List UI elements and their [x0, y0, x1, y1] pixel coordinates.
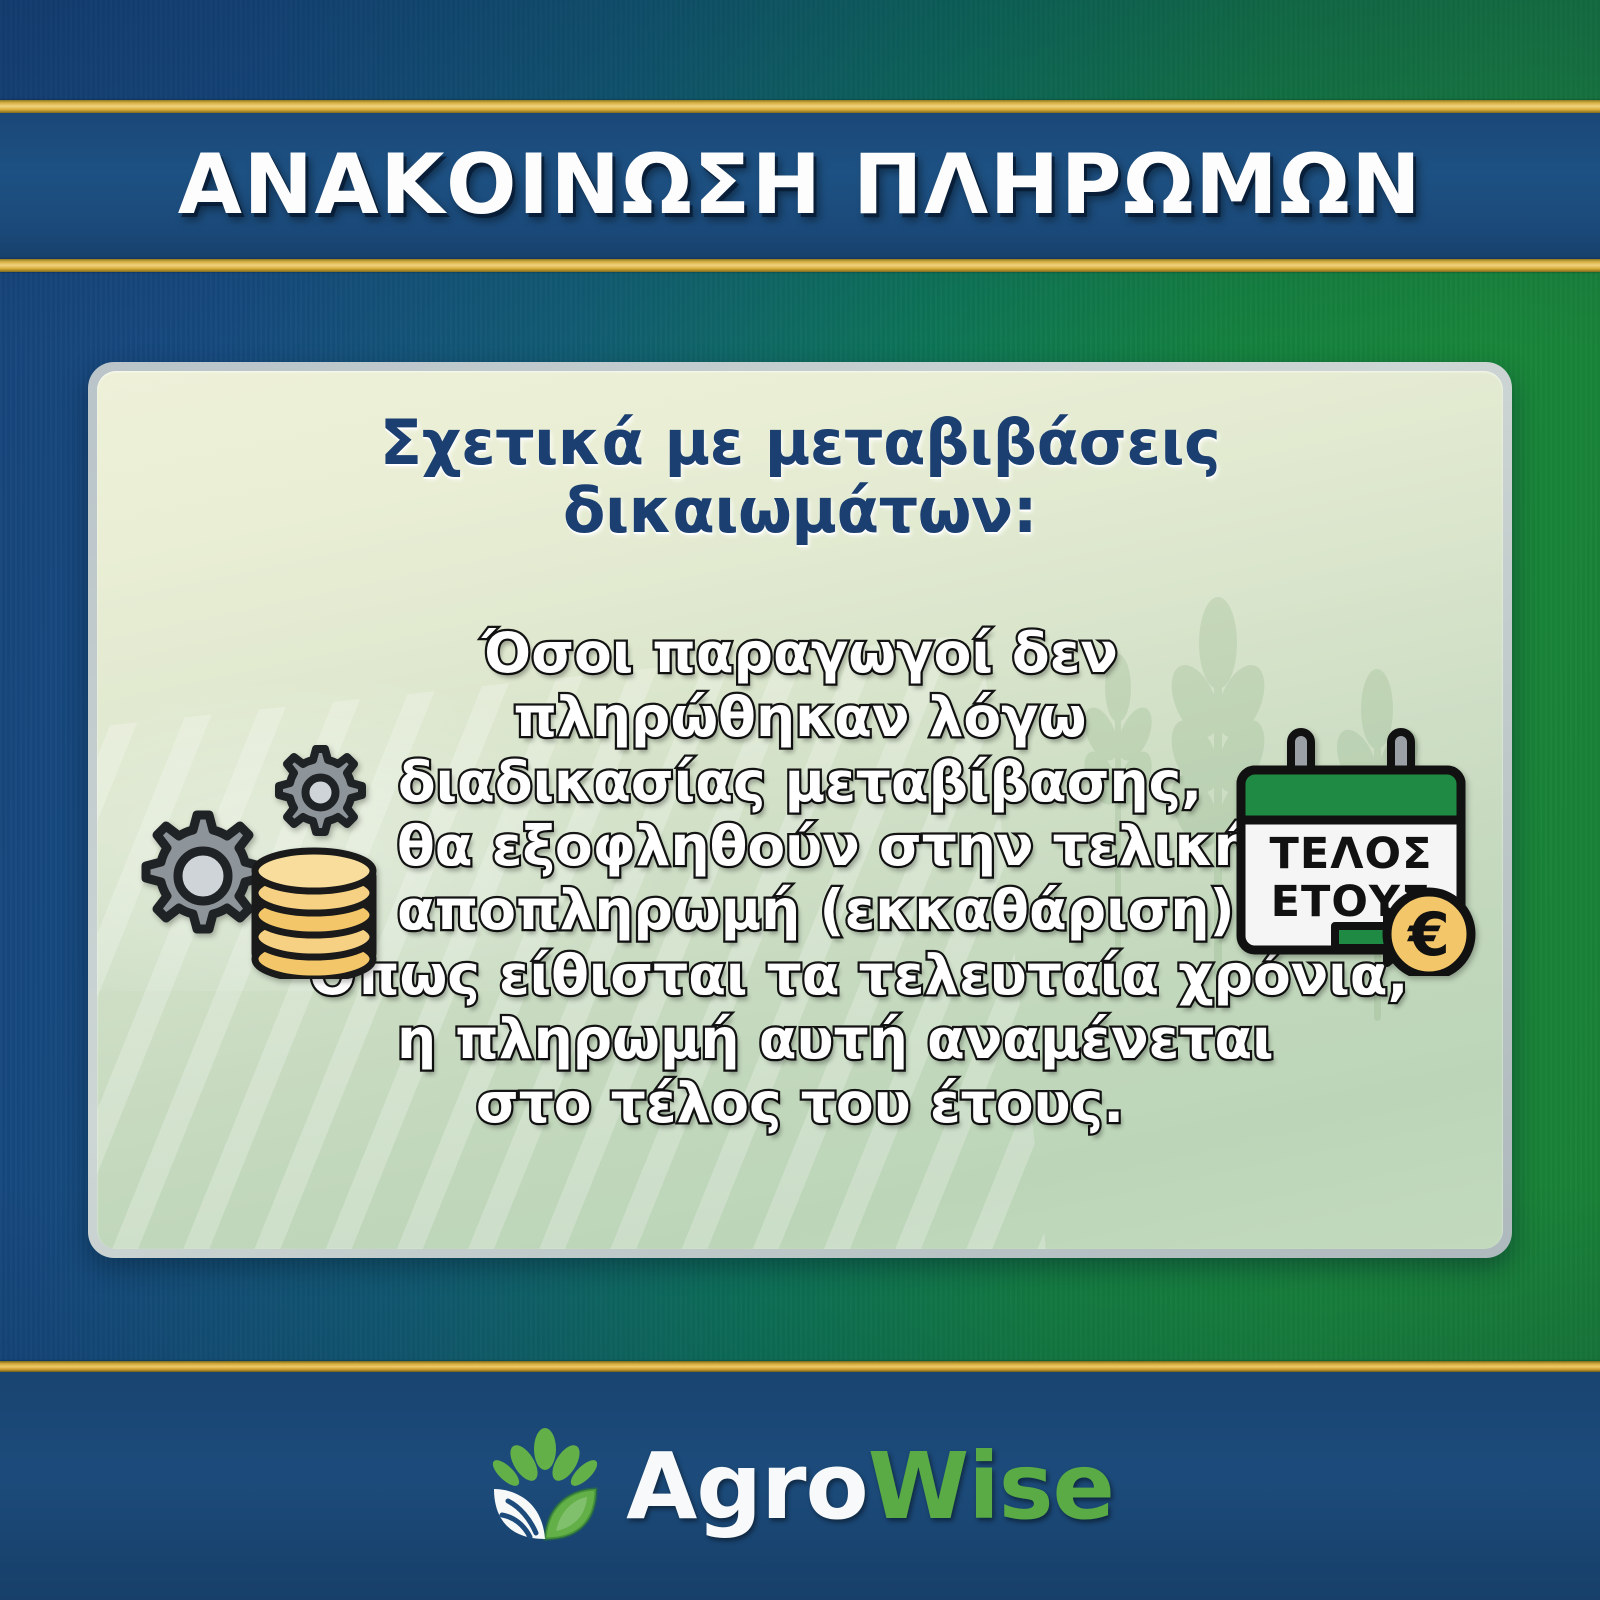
- header-band: ΑΝΑΚΟΙΝΩΣΗ ΠΛΗΡΩΜΩΝ: [0, 100, 1600, 272]
- header-inner: ΑΝΑΚΟΙΝΩΣΗ ΠΛΗΡΩΜΩΝ: [0, 113, 1600, 259]
- card-heading-line-1: Σχετικά με μεταβιβάσεις: [380, 406, 1221, 479]
- content-card-frame: Σχετικά με μεταβιβάσεις δικαιωμάτων: Όσο…: [88, 362, 1512, 1258]
- card-body-line: διαδικασίας μεταβίβασης,: [397, 750, 1203, 814]
- content-card: Σχετικά με μεταβιβάσεις δικαιωμάτων: Όσο…: [97, 371, 1503, 1249]
- card-body-line: Όσοι παραγωγοί δεν: [397, 621, 1203, 685]
- card-body-line: πληρώθηκαν λόγω: [397, 685, 1203, 749]
- card-content: Σχετικά με μεταβιβάσεις δικαιωμάτων: Όσο…: [97, 371, 1503, 1249]
- footer-gold-rule: [0, 1361, 1600, 1372]
- card-heading-line-2: δικαιωμάτων:: [563, 474, 1037, 547]
- calendar-label-line-1: ΤΕΛΟΣ: [1270, 829, 1433, 879]
- brand-wordmark-agro: Agro: [626, 1433, 868, 1540]
- card-body-line: η πληρωμή αυτή αναμένεται: [397, 1007, 1203, 1071]
- page-title: ΑΝΑΚΟΙΝΩΣΗ ΠΛΗΡΩΜΩΝ: [178, 136, 1422, 233]
- card-heading: Σχετικά με μεταβιβάσεις δικαιωμάτων:: [97, 409, 1503, 544]
- brand-wordmark-wise: Wise: [868, 1433, 1114, 1540]
- gears-coins-icon: [125, 729, 393, 979]
- card-body-line: στο τέλος του έτους.: [397, 1071, 1203, 1135]
- euro-symbol: €: [1406, 900, 1450, 970]
- end-of-year-calendar-icon: ΤΕΛΟΣ ΕΤΟΥΣ €: [1223, 726, 1481, 976]
- header-gold-rule-bottom: [0, 259, 1600, 272]
- poster-root: ΑΝΑΚΟΙΝΩΣΗ ΠΛΗΡΩΜΩΝ: [0, 0, 1600, 1600]
- header-gold-rule-top: [0, 100, 1600, 113]
- agrowise-sprout-logo: [486, 1427, 604, 1545]
- card-body-line: αποπληρωμή (εκκαθάριση).: [397, 878, 1203, 942]
- card-body-line: Όπως είθισται τα τελευταία χρόνια,: [307, 943, 1293, 1007]
- card-body-line: θα εξοφληθούν στην τελική: [397, 814, 1203, 878]
- footer-brand-bar: AgroWise: [0, 1372, 1600, 1600]
- brand-wordmark: AgroWise: [626, 1433, 1114, 1540]
